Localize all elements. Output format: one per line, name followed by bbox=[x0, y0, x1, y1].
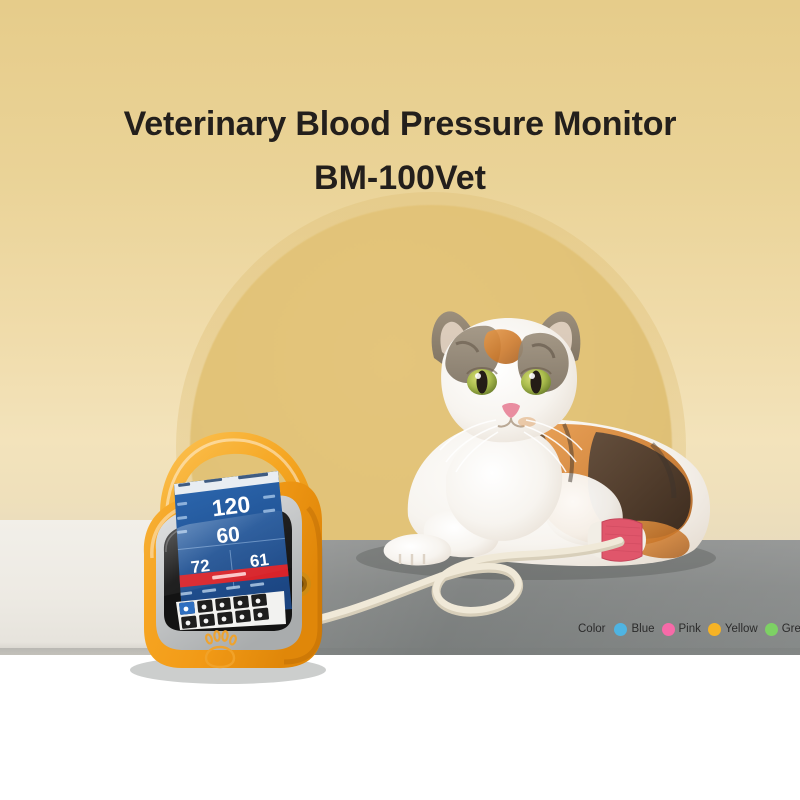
color-legend: Color Blue Pink Yellow Green bbox=[578, 620, 800, 638]
color-swatch-yellow-icon bbox=[708, 623, 721, 636]
color-swatch-pink-icon bbox=[662, 623, 675, 636]
legend-label-green: Green bbox=[782, 623, 800, 635]
blood-pressure-monitor-device[interactable]: 120 60 72 61 bbox=[108, 418, 334, 686]
product-title-line-2: BM-100Vet bbox=[0, 158, 800, 198]
color-swatch-green-icon bbox=[765, 623, 778, 636]
legend-label-yellow: Yellow bbox=[725, 623, 758, 635]
page-title: Veterinary Blood Pressure Monitor BM-100… bbox=[0, 104, 800, 198]
legend-item-pink[interactable]: Pink bbox=[662, 623, 701, 636]
product-poster: Veterinary Blood Pressure Monitor BM-100… bbox=[0, 0, 800, 800]
legend-label-blue: Blue bbox=[631, 623, 654, 635]
legend-item-green[interactable]: Green bbox=[765, 623, 800, 636]
legend-label-pink: Pink bbox=[679, 623, 701, 635]
legend-item-blue[interactable]: Blue bbox=[614, 623, 654, 636]
color-legend-label: Color bbox=[578, 623, 605, 635]
color-swatch-blue-icon bbox=[614, 623, 627, 636]
legend-item-yellow[interactable]: Yellow bbox=[708, 623, 758, 636]
product-title-line-1: Veterinary Blood Pressure Monitor bbox=[0, 104, 800, 144]
